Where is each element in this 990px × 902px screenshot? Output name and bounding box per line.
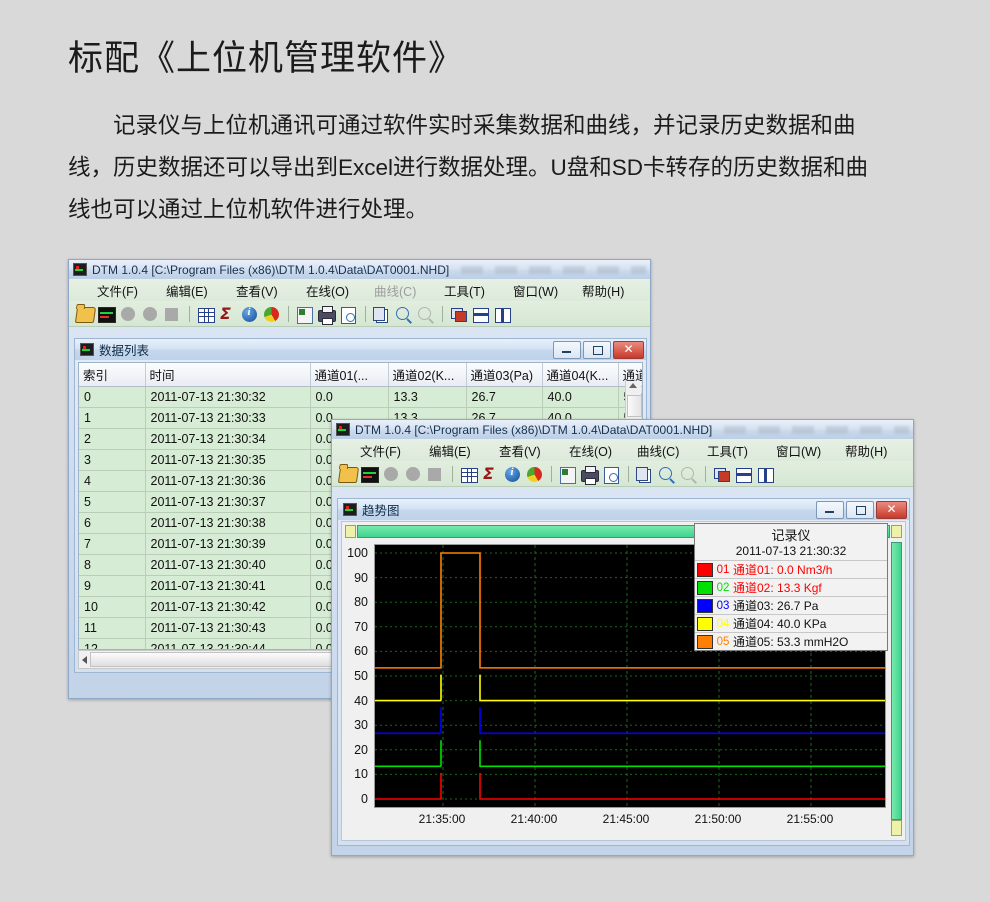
tile-horizontal-icon-glyph <box>736 468 752 483</box>
record-pause-icon[interactable] <box>403 464 423 484</box>
pie-chart-icon-glyph <box>527 467 542 482</box>
y-axis-tick: 40 <box>354 694 368 708</box>
titlebar-blurred-region <box>461 266 646 274</box>
table-cell: 1 <box>79 408 145 429</box>
data-list-icon <box>80 343 94 356</box>
open-file-icon[interactable] <box>74 304 94 324</box>
legend-color-swatch <box>697 581 713 595</box>
y-axis-tick: 10 <box>354 767 368 781</box>
tile-horizontal-icon-glyph <box>473 308 489 323</box>
table-cell: 12 <box>79 639 145 651</box>
window2-titlebar[interactable]: DTM 1.0.4 [C:\Program Files (x86)\DTM 1.… <box>332 420 913 439</box>
legend-color-swatch <box>697 563 713 577</box>
close-button[interactable]: ✕ <box>613 341 644 359</box>
record-pause-icon[interactable] <box>140 304 160 324</box>
table-cell: 2011-07-13 21:30:39 <box>145 534 310 555</box>
toolbar-separator <box>442 306 443 322</box>
article-paragraph: 记录仪与上位机通讯可通过软件实时采集数据和曲线，并记录历史数据和曲线，历史数据还… <box>68 105 888 231</box>
window-titlebar[interactable]: DTM 1.0.4 [C:\Program Files (x86)\DTM 1.… <box>69 260 650 279</box>
statistics-sigma-icon-glyph: Σ <box>220 305 231 323</box>
legend-row: 02通道02: 13.3 Kgf <box>695 578 887 596</box>
table-cell: 2011-07-13 21:30:36 <box>145 471 310 492</box>
scroll-left-icon[interactable] <box>82 656 87 664</box>
record-stop-icon[interactable] <box>425 464 445 484</box>
trend-chart-window[interactable]: 趋势图 ✕ 0102030405060708090100 21:35:0021:… <box>337 498 910 846</box>
legend-channel-number: 01 <box>713 564 733 576</box>
vslider-handle[interactable] <box>891 820 902 836</box>
curve-view-icon[interactable] <box>96 304 116 324</box>
menu-item-3[interactable]: 查看(V) <box>236 281 278 300</box>
legend-color-swatch <box>697 599 713 613</box>
open-file-icon[interactable] <box>337 464 357 484</box>
info-icon-glyph <box>505 467 520 482</box>
menu-item-6[interactable]: 工具(T) <box>444 281 485 300</box>
table-cell: 9 <box>79 576 145 597</box>
menu-item-7[interactable]: 窗口(W) <box>513 281 558 300</box>
data-list-title: 数据列表 <box>99 340 551 359</box>
cascade-windows-icon-glyph <box>451 308 465 321</box>
menu-item-8[interactable]: 帮助(H) <box>845 441 887 460</box>
toolbar-separator <box>189 306 190 322</box>
zoom-out-icon-glyph <box>418 307 431 320</box>
print-preview-icon[interactable] <box>338 304 358 324</box>
chart-legend: 记录仪 2011-07-13 21:30:32 01通道01: 0.0 Nm3/… <box>694 523 888 651</box>
data-table-icon-glyph <box>461 468 478 483</box>
table-cell: 2011-07-13 21:30:38 <box>145 513 310 534</box>
toolbar-separator <box>628 466 629 482</box>
print-preview-icon[interactable] <box>601 464 621 484</box>
page-title: 标配《上位机管理软件》 <box>68 30 464 81</box>
record-start-icon-glyph <box>384 467 398 481</box>
table-row[interactable]: 02011-07-13 21:30:320.013.326.740.053.3 <box>79 387 643 408</box>
legend-channel-number: 02 <box>713 582 733 594</box>
trend-titlebar[interactable]: 趋势图 ✕ <box>338 499 909 520</box>
export-excel-icon[interactable] <box>294 304 314 324</box>
window-title: DTM 1.0.4 [C:\Program Files (x86)\DTM 1.… <box>92 263 449 277</box>
curve-view-icon-glyph <box>361 467 379 483</box>
record-pause-icon-glyph <box>406 467 420 481</box>
table-cell: 40.0 <box>542 387 618 408</box>
legend-channel-number: 05 <box>713 636 733 648</box>
x-axis-tick: 21:55:00 <box>787 812 834 826</box>
export-excel-icon-glyph <box>297 307 313 324</box>
zoom-out-icon-glyph <box>681 467 694 480</box>
menu-item-4[interactable]: 在线(O) <box>569 441 612 460</box>
maximize-button[interactable] <box>583 341 611 359</box>
zoom-in-icon-glyph <box>659 467 672 480</box>
menu-item-7[interactable]: 窗口(W) <box>776 441 821 460</box>
table-cell: 0.0 <box>310 387 388 408</box>
value-range-slider[interactable] <box>891 542 902 836</box>
toolbar-separator <box>705 466 706 482</box>
y-axis-tick: 90 <box>354 571 368 585</box>
column-header-2[interactable]: 时间 <box>145 363 310 387</box>
column-header-1[interactable]: 索引 <box>79 363 145 387</box>
tile-vertical-icon-glyph <box>758 468 774 483</box>
table-cell: 8 <box>79 555 145 576</box>
copy-icon[interactable] <box>634 464 654 484</box>
legend-color-swatch <box>697 617 713 631</box>
table-cell: 6 <box>79 513 145 534</box>
data-table-icon[interactable] <box>458 464 478 484</box>
pie-chart-icon[interactable] <box>524 464 544 484</box>
trend-icon <box>343 503 357 516</box>
export-excel-icon[interactable] <box>557 464 577 484</box>
copy-icon[interactable] <box>371 304 391 324</box>
curve-view-icon[interactable] <box>359 464 379 484</box>
app-icon <box>73 263 87 276</box>
menu-item-4[interactable]: 在线(O) <box>306 281 349 300</box>
table-cell: 10 <box>79 597 145 618</box>
print-preview-icon-glyph <box>604 467 619 484</box>
vslider-track[interactable] <box>891 542 902 820</box>
record-stop-icon[interactable] <box>162 304 182 324</box>
tile-horizontal-icon[interactable] <box>733 464 753 484</box>
info-icon[interactable] <box>502 464 522 484</box>
y-axis-tick: 30 <box>354 718 368 732</box>
tile-vertical-icon[interactable] <box>492 304 512 324</box>
menu-item-1[interactable]: 文件(F) <box>97 281 138 300</box>
table-cell: 2011-07-13 21:30:44 <box>145 639 310 651</box>
slider-left-handle[interactable] <box>345 525 356 538</box>
slider-right-handle[interactable] <box>891 525 902 538</box>
toolbar[interactable]: Σ <box>332 461 913 487</box>
statistics-sigma-icon[interactable]: Σ <box>480 464 500 484</box>
legend-channel-text: 通道01: 0.0 Nm3/h <box>733 561 832 578</box>
data-table-icon[interactable] <box>195 304 215 324</box>
menu-item-8[interactable]: 帮助(H) <box>582 281 624 300</box>
copy-icon-glyph <box>639 469 651 483</box>
table-cell: 7 <box>79 534 145 555</box>
zoom-in-icon-glyph <box>396 307 409 320</box>
toolbar-separator <box>551 466 552 482</box>
toolbar[interactable]: Σ <box>69 301 650 327</box>
y-axis-tick: 70 <box>354 620 368 634</box>
print-preview-icon-glyph <box>341 307 356 324</box>
legend-row: 05通道05: 53.3 mmH2O <box>695 632 887 650</box>
legend-channel-number: 03 <box>713 600 733 612</box>
maximize-button[interactable] <box>846 501 874 519</box>
menu-item-1[interactable]: 文件(F) <box>360 441 401 460</box>
table-cell: 2011-07-13 21:30:41 <box>145 576 310 597</box>
table-cell: 2011-07-13 21:30:35 <box>145 450 310 471</box>
table-cell: 2011-07-13 21:30:40 <box>145 555 310 576</box>
toolbar-separator <box>452 466 453 482</box>
open-file-icon-glyph <box>338 467 359 483</box>
data-list-titlebar[interactable]: 数据列表 ✕ <box>75 339 646 360</box>
table-cell: 2011-07-13 21:30:42 <box>145 597 310 618</box>
y-axis: 0102030405060708090100 <box>342 544 372 806</box>
x-axis-tick: 21:35:00 <box>419 812 466 826</box>
menu-item-6[interactable]: 工具(T) <box>707 441 748 460</box>
data-table-icon-glyph <box>198 308 215 323</box>
table-cell: 2011-07-13 21:30:43 <box>145 618 310 639</box>
zoom-in-icon[interactable] <box>393 304 413 324</box>
legend-channel-text: 通道03: 26.7 Pa <box>733 597 818 614</box>
curve-view-icon-glyph <box>98 307 116 323</box>
x-axis: 21:35:0021:40:0021:45:0021:50:0021:55:00 <box>374 810 886 828</box>
table-cell: 2011-07-13 21:30:34 <box>145 429 310 450</box>
menu-item-2[interactable]: 编辑(E) <box>429 441 471 460</box>
copy-icon-glyph <box>376 309 388 323</box>
legend-title: 记录仪 <box>695 524 887 544</box>
y-axis-tick: 20 <box>354 743 368 757</box>
x-axis-tick: 21:50:00 <box>695 812 742 826</box>
zoom-out-icon[interactable] <box>678 464 698 484</box>
menu-item-5[interactable]: 曲线(C) <box>637 441 679 460</box>
trend-title: 趋势图 <box>362 500 814 519</box>
open-file-icon-glyph <box>75 307 96 323</box>
pie-chart-icon[interactable] <box>261 304 281 324</box>
table-cell: 2 <box>79 429 145 450</box>
trend-body: 0102030405060708090100 21:35:0021:40:002… <box>341 521 906 841</box>
y-axis-tick: 0 <box>361 792 368 806</box>
table-cell: 11 <box>79 618 145 639</box>
column-header-4[interactable]: 通道02(K... <box>388 363 466 387</box>
table-cell: 13.3 <box>388 387 466 408</box>
table-cell: 5 <box>79 492 145 513</box>
print-icon[interactable] <box>316 304 336 324</box>
x-axis-tick: 21:40:00 <box>511 812 558 826</box>
table-cell: 2011-07-13 21:30:32 <box>145 387 310 408</box>
legend-channel-text: 通道05: 53.3 mmH2O <box>733 633 848 650</box>
legend-channel-text: 通道02: 13.3 Kgf <box>733 579 822 596</box>
table-cell: 2011-07-13 21:30:37 <box>145 492 310 513</box>
menu-item-3[interactable]: 查看(V) <box>499 441 541 460</box>
column-header-5[interactable]: 通道03(Pa) <box>466 363 542 387</box>
statistics-sigma-icon-glyph: Σ <box>483 465 494 483</box>
legend-color-swatch <box>697 635 713 649</box>
info-icon[interactable] <box>239 304 259 324</box>
info-icon-glyph <box>242 307 257 322</box>
print-icon[interactable] <box>579 464 599 484</box>
dtm-main-window-front[interactable]: DTM 1.0.4 [C:\Program Files (x86)\DTM 1.… <box>331 419 914 856</box>
tile-vertical-icon[interactable] <box>755 464 775 484</box>
record-start-icon[interactable] <box>118 304 138 324</box>
table-header-row[interactable]: 索引时间通道01(...通道02(K...通道03(Pa)通道04(K...通道… <box>79 363 643 387</box>
series-通道02-right <box>480 740 885 766</box>
y-axis-tick: 50 <box>354 669 368 683</box>
statistics-sigma-icon[interactable]: Σ <box>217 304 237 324</box>
record-start-icon[interactable] <box>381 464 401 484</box>
y-axis-tick: 80 <box>354 595 368 609</box>
legend-channel-number: 04 <box>713 618 733 630</box>
table-cell: 26.7 <box>466 387 542 408</box>
toolbar-separator <box>288 306 289 322</box>
x-axis-tick: 21:45:00 <box>603 812 650 826</box>
pie-chart-icon-glyph <box>264 307 279 322</box>
zoom-in-icon[interactable] <box>656 464 676 484</box>
table-cell: 0 <box>79 387 145 408</box>
menu-bar[interactable]: 文件(F)编辑(E)查看(V)在线(O)曲线(C)工具(T)窗口(W)帮助(H) <box>69 279 650 301</box>
table-cell: 3 <box>79 450 145 471</box>
cascade-windows-icon[interactable] <box>711 464 731 484</box>
y-axis-tick: 100 <box>347 546 368 560</box>
tile-vertical-icon-glyph <box>495 308 511 323</box>
app-icon <box>336 423 350 436</box>
table-cell: 2011-07-13 21:30:33 <box>145 408 310 429</box>
record-stop-icon-glyph <box>428 468 441 481</box>
series-通道04-right <box>480 675 885 701</box>
y-axis-tick: 60 <box>354 644 368 658</box>
titlebar-blurred-region <box>724 426 909 434</box>
window2-title: DTM 1.0.4 [C:\Program Files (x86)\DTM 1.… <box>355 423 712 437</box>
column-header-3[interactable]: 通道01(... <box>310 363 388 387</box>
close-button[interactable]: ✕ <box>876 501 907 519</box>
print-icon-glyph <box>581 470 599 482</box>
legend-channel-text: 通道04: 40.0 KPa <box>733 615 826 632</box>
menu-bar[interactable]: 文件(F)编辑(E)查看(V)在线(O)曲线(C)工具(T)窗口(W)帮助(H) <box>332 439 913 461</box>
legend-row: 04通道04: 40.0 KPa <box>695 614 887 632</box>
minimize-button[interactable] <box>553 341 581 359</box>
zoom-out-icon[interactable] <box>415 304 435 324</box>
record-stop-icon-glyph <box>165 308 178 321</box>
record-start-icon-glyph <box>121 307 135 321</box>
scroll-up-icon[interactable] <box>629 383 637 388</box>
minimize-button[interactable] <box>816 501 844 519</box>
legend-timestamp: 2011-07-13 21:30:32 <box>695 544 887 560</box>
menu-item-5[interactable]: 曲线(C) <box>374 281 416 300</box>
series-通道03-right <box>480 707 885 733</box>
scrollbar-thumb[interactable] <box>627 395 642 417</box>
table-cell: 4 <box>79 471 145 492</box>
toolbar-separator <box>365 306 366 322</box>
record-pause-icon-glyph <box>143 307 157 321</box>
print-icon-glyph <box>318 310 336 322</box>
series-通道01-right <box>480 773 885 799</box>
column-header-6[interactable]: 通道04(K... <box>542 363 618 387</box>
export-excel-icon-glyph <box>560 467 576 484</box>
legend-row: 01通道01: 0.0 Nm3/h <box>695 560 887 578</box>
cascade-windows-icon[interactable] <box>448 304 468 324</box>
cascade-windows-icon-glyph <box>714 468 728 481</box>
menu-item-2[interactable]: 编辑(E) <box>166 281 208 300</box>
tile-horizontal-icon[interactable] <box>470 304 490 324</box>
legend-row: 03通道03: 26.7 Pa <box>695 596 887 614</box>
